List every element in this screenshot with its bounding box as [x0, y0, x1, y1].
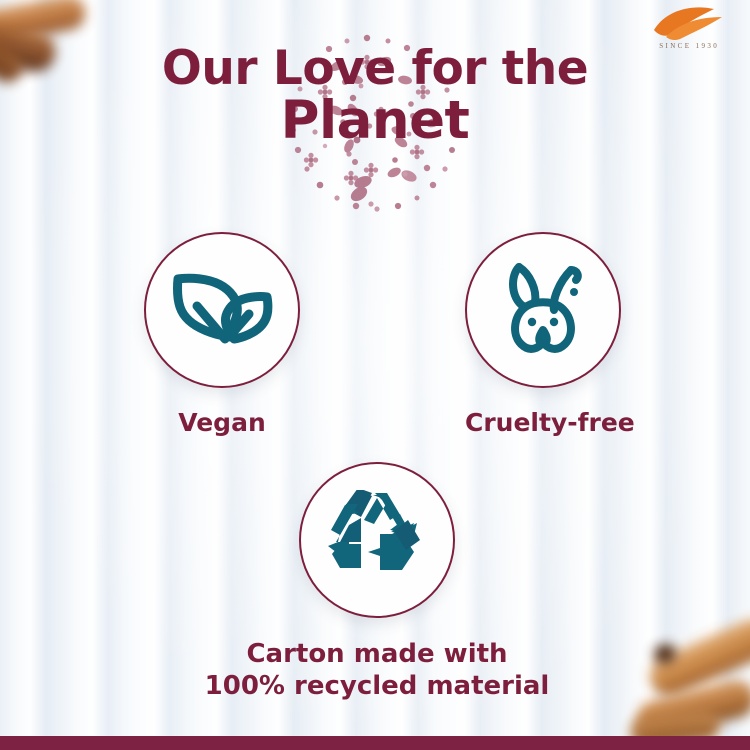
recycle-icon [328, 490, 426, 591]
leaf-icon [170, 263, 274, 358]
badge-recycled-carton-caption-line-2: 100% recycled material [205, 671, 550, 701]
swoosh-leaf-icon [640, 6, 736, 40]
cinnamon-stick-icon [0, 0, 88, 49]
badge-cruelty-free-circle [465, 232, 621, 388]
bottom-accent-bar [0, 736, 750, 750]
badge-recycled-carton-circle [299, 462, 455, 618]
page-title-line-2: Planet [0, 92, 750, 150]
cinnamon-stick-icon [633, 676, 750, 742]
badge-vegan-circle [144, 232, 300, 388]
cinnamon-stick-icon [651, 641, 679, 667]
badge-vegan[interactable]: Vegan [144, 232, 300, 438]
rabbit-icon [497, 258, 589, 363]
badge-cruelty-free-caption: Cruelty-free [465, 408, 621, 438]
badge-recycled-carton-caption: Carton made with 100% recycled material [167, 638, 587, 702]
cinnamon-stick-icon [643, 613, 750, 702]
page-title: Our Love for the Planet [0, 44, 750, 150]
badge-recycled-carton-caption-line-1: Carton made with [246, 639, 507, 669]
page-title-line-1: Our Love for the [0, 44, 750, 94]
badge-cruelty-free[interactable]: Cruelty-free [465, 232, 621, 438]
poster-canvas: SINCE 1930 [0, 0, 750, 750]
badge-recycled-carton[interactable]: Carton made with 100% recycled material [299, 462, 455, 702]
badge-vegan-caption: Vegan [144, 408, 300, 438]
